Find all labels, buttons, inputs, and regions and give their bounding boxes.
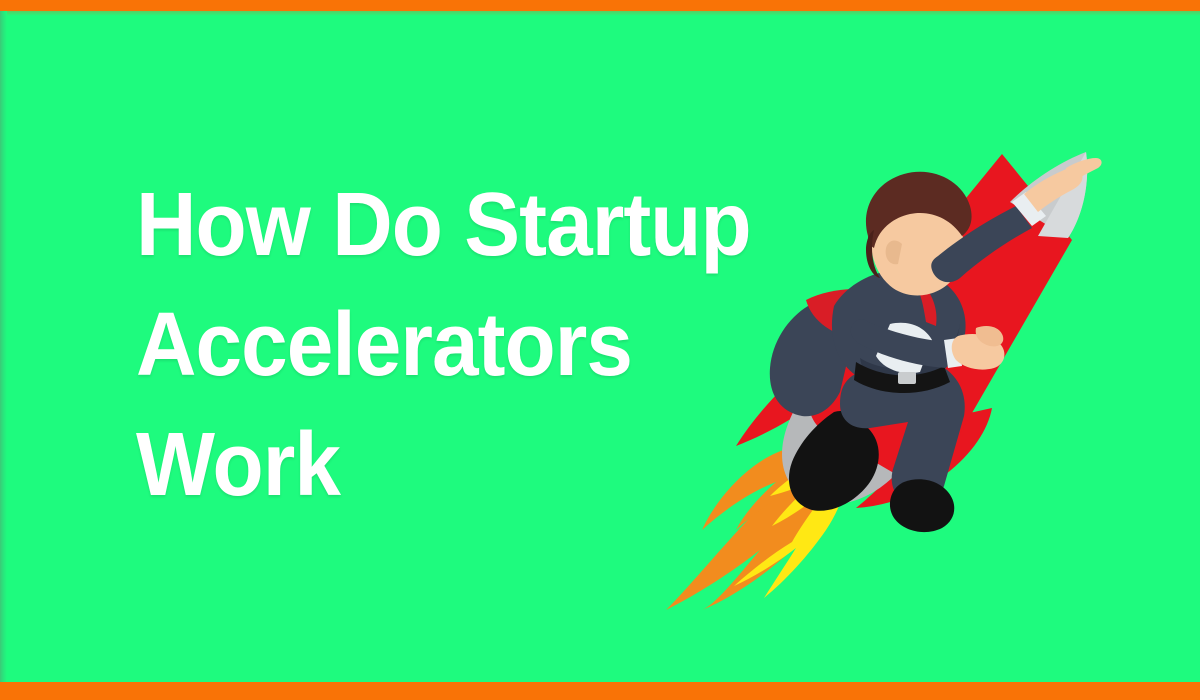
belt-buckle xyxy=(898,372,916,384)
headline-line-3: Work xyxy=(136,405,750,525)
headline-line-2: Accelerators xyxy=(136,285,750,405)
page-title: How Do Startup Accelerators Work xyxy=(136,165,796,525)
bottom-accent-band xyxy=(0,682,1200,700)
poster-canvas: How Do Startup Accelerators Work xyxy=(0,0,1200,700)
top-accent-band xyxy=(0,0,1200,11)
left-edge-seam xyxy=(0,11,7,682)
front-boot xyxy=(890,479,954,532)
headline-line-1: How Do Startup xyxy=(136,165,750,285)
top-edge-seam xyxy=(0,11,1200,16)
